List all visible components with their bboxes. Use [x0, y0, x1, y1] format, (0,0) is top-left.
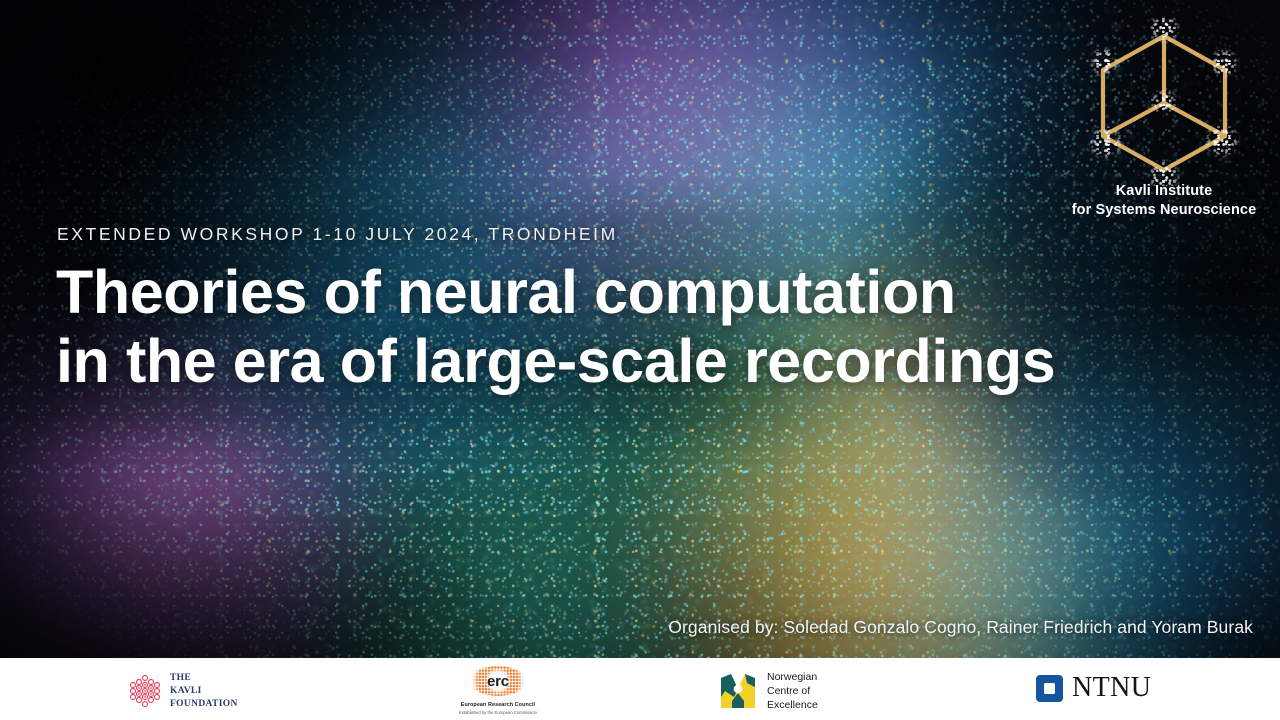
poster-content: EXTENDED WORKSHOP 1-10 JULY 2024, TRONDH…: [0, 0, 1280, 720]
ntnu-square-icon: [1036, 675, 1063, 702]
logo-ntnu[interactable]: NTNU: [1036, 674, 1151, 702]
logo-erc[interactable]: erc European Research Council Establishe…: [459, 666, 537, 715]
nce-line-3: Excellence: [767, 698, 818, 712]
nce-abstract-icon: [718, 671, 758, 711]
kavli-cube-wireframe: [1089, 26, 1239, 178]
logo-kavli-foundation[interactable]: THE KAVLI FOUNDATION: [128, 672, 238, 710]
event-details-eyebrow: EXTENDED WORKSHOP 1-10 JULY 2024, TRONDH…: [57, 224, 618, 245]
kf-line-1: THE: [170, 672, 238, 685]
erc-dotted-circle-icon: erc: [469, 666, 527, 696]
kavli-institute-wordmark: Kavli Institute for Systems Neuroscience: [1066, 182, 1262, 219]
title-line-1: Theories of neural computation: [56, 258, 1176, 327]
nce-line-2: Centre of: [767, 684, 818, 698]
kavli-cube-icon: [1089, 26, 1239, 178]
erc-wordmark: erc: [487, 674, 509, 689]
nce-wordmark: Norwegian Centre of Excellence: [767, 670, 818, 713]
sponsor-footer-bar: THE KAVLI FOUNDATION erc European Resear…: [0, 658, 1280, 720]
kf-line-2: KAVLI: [170, 685, 238, 698]
workshop-poster: EXTENDED WORKSHOP 1-10 JULY 2024, TRONDH…: [0, 0, 1280, 720]
erc-line-1: European Research Council: [461, 702, 535, 708]
kf-line-3: FOUNDATION: [170, 698, 238, 711]
kavli-foundation-wordmark: THE KAVLI FOUNDATION: [170, 672, 238, 710]
kavli-institute-line-2: for Systems Neuroscience: [1066, 201, 1262, 220]
ntnu-wordmark: NTNU: [1072, 674, 1151, 702]
kavli-institute-logo: Kavli Institute for Systems Neuroscience: [1066, 26, 1262, 219]
kavli-foundation-lattice-icon: [128, 674, 162, 708]
erc-line-2: Established by the European Commission: [459, 710, 537, 715]
logo-norwegian-centre-of-excellence[interactable]: Norwegian Centre of Excellence: [718, 670, 818, 713]
nce-line-1: Norwegian: [767, 670, 818, 684]
title-line-2: in the era of large-scale recordings: [56, 327, 1176, 396]
ntnu-inner-square-icon: [1044, 683, 1055, 694]
kavli-institute-line-1: Kavli Institute: [1066, 182, 1262, 201]
organisers-credit: Organised by: Soledad Gonzalo Cogno, Rai…: [668, 617, 1253, 638]
page-title: Theories of neural computation in the er…: [56, 258, 1176, 396]
